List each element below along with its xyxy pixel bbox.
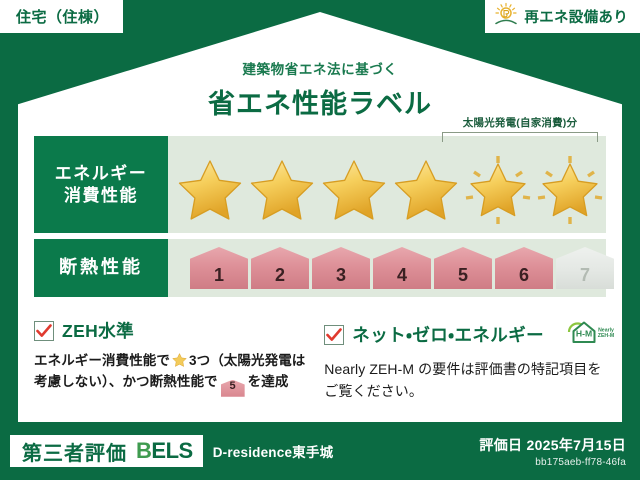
energy-key-line2: 消費性能: [64, 185, 138, 207]
insulation-grade-badge: 5: [434, 247, 492, 289]
zeh-standard-section: ZEH水準 エネルギー消費性能で3つ（太陽光発電は考慮しない）、かつ断熱性能で5…: [34, 318, 308, 402]
zeh-desc-part1: エネルギー消費性能で: [34, 353, 170, 368]
net-zero-energy-title: ネット・ゼロ・エネルギー: [352, 322, 544, 347]
insulation-key-label: 断熱性能: [59, 256, 143, 279]
net-zero-energy-checkbox: [324, 325, 344, 345]
zeh-standard-description: エネルギー消費性能で3つ（太陽光発電は考慮しない）、かつ断熱性能で5を達成: [34, 350, 308, 397]
solar-sun-icon: [493, 2, 519, 31]
zeh-standard-title: ZEH水準: [62, 318, 134, 343]
energy-performance-label: 住宅（住棟） 再エネ設備あり 建築物省エネ法に基づく: [0, 0, 640, 480]
insulation-grade-badge: 3: [312, 247, 370, 289]
star-icon: [174, 154, 246, 226]
evaluation-id: bb175aeb-ff78-46fa: [479, 457, 626, 468]
energy-performance-value: 太陽光発電(自家消費)分: [168, 136, 606, 233]
footer-bar: 第三者評価 BELS D-residence東手城 評価日 2025年7月15日…: [0, 422, 640, 480]
star-icon: [246, 154, 318, 226]
insulation-grade-badge: 4: [373, 247, 431, 289]
energy-performance-key: エネルギー 消費性能: [34, 136, 168, 233]
solar-portion-bracket: [442, 132, 598, 142]
heading-subtitle: 建築物省エネ法に基づく: [0, 58, 640, 78]
insulation-grade-badge: 7: [556, 247, 614, 289]
zeh-standard-checkbox: [34, 321, 54, 341]
net-zero-energy-section: ネット・ゼロ・エネルギー H-M Nearly ZEH-M Nearly ZEH…: [324, 318, 614, 402]
insulation-grade-badge: 1: [190, 247, 248, 289]
zeh-standard-header: ZEH水準: [34, 318, 308, 343]
bels-logo: BELS: [136, 438, 193, 464]
building-name: D-residence東手城: [213, 441, 334, 461]
net-zero-energy-description: Nearly ZEH-M の要件は評価書の特記項目をご覧ください。: [324, 358, 614, 402]
svg-text:H-M: H-M: [576, 329, 592, 339]
evaluation-date: 評価日 2025年7月15日: [479, 435, 626, 455]
insulation-performance-value: 1 2 3 4 5 6 7: [168, 239, 614, 297]
label-heading: 建築物省エネ法に基づく 省エネ性能ラベル: [0, 58, 640, 121]
energy-key-line1: エネルギー: [55, 163, 148, 185]
inline-grade-badge: 5: [221, 380, 245, 397]
insulation-performance-key: 断熱性能: [34, 239, 168, 297]
check-mark-icon: [36, 324, 52, 338]
bels-logo-els: ELS: [151, 438, 192, 463]
nearly-zeh-m-logo-icon: H-M Nearly ZEH-M: [556, 318, 614, 351]
insulation-performance-row: 断熱性能 1 2 3 4 5 6 7: [34, 239, 606, 297]
inline-star-icon: [171, 352, 188, 368]
performance-rows: エネルギー 消費性能 太陽光発電(自家消費)分: [34, 136, 606, 297]
insulation-grade-scale: 1 2 3 4 5 6 7: [168, 239, 614, 297]
renewable-equipment-badge: 再エネ設備あり: [485, 0, 640, 33]
net-zero-energy-header: ネット・ゼロ・エネルギー H-M Nearly ZEH-M: [324, 318, 614, 351]
bels-chip: 第三者評価 BELS: [10, 435, 203, 467]
renewable-badge-label: 再エネ設備あり: [524, 6, 628, 27]
bels-logo-b: B: [136, 438, 151, 463]
check-mark-icon: [326, 328, 342, 342]
building-type-chip: 住宅（住棟）: [0, 0, 123, 33]
solar-star-icon: [462, 154, 534, 226]
svg-text:ZEH-M: ZEH-M: [598, 333, 614, 339]
insulation-grade-badge: 6: [495, 247, 553, 289]
energy-performance-row: エネルギー 消費性能 太陽光発電(自家消費)分: [34, 136, 606, 233]
solar-portion-caption: 太陽光発電(自家消費)分: [440, 115, 600, 130]
evaluation-info: 評価日 2025年7月15日 bb175aeb-ff78-46fa: [479, 435, 626, 468]
insulation-grade-badge: 2: [251, 247, 309, 289]
solar-star-icon: [534, 154, 606, 226]
check-statements: ZEH水準 エネルギー消費性能で3つ（太陽光発電は考慮しない）、かつ断熱性能で5…: [34, 318, 614, 402]
zeh-desc-part3: を達成: [248, 374, 289, 389]
star-icon: [390, 154, 462, 226]
star-rating: 太陽光発電(自家消費)分: [168, 136, 606, 233]
star-icon: [318, 154, 390, 226]
third-party-evaluation-label: 第三者評価: [22, 437, 127, 466]
building-type-label: 住宅（住棟）: [16, 6, 109, 27]
